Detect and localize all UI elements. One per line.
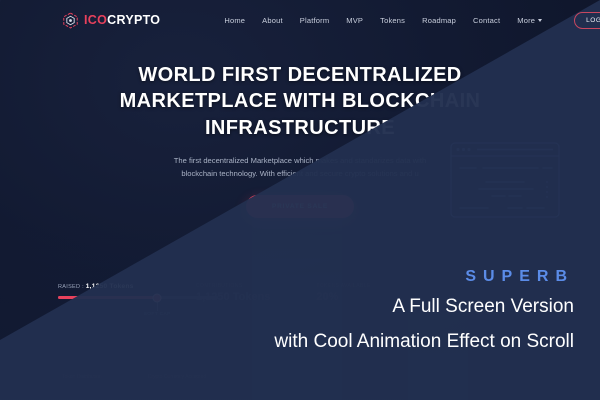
private-sale-button[interactable]: PRIVATE SALE <box>246 195 354 218</box>
logo-text: ICOCRYPTO <box>84 13 160 27</box>
hero-cta-wrapper: PRIVATE SALE <box>0 195 600 218</box>
site-logo[interactable]: ICOCRYPTO <box>62 12 160 29</box>
nav-item-contact[interactable]: Contact <box>473 16 500 25</box>
nav-item-mvp[interactable]: MVP <box>346 16 363 25</box>
softcap-label: SOFT CAP <box>144 312 171 317</box>
site-header: ICOCRYPTO Home About Platform MVP Tokens… <box>0 0 600 40</box>
hero-subtitle: The first decentralized Marketplace whic… <box>163 154 438 181</box>
raised-label: RAISED : 1,1250 Tokens <box>58 283 218 290</box>
raised-progress-block: RAISED : 1,1250 Tokens SOFT CAP <box>58 283 218 299</box>
logo-text-secondary: CRYPTO <box>107 13 160 27</box>
nav-item-roadmap[interactable]: Roadmap <box>422 16 456 25</box>
nav-item-more[interactable]: More <box>517 16 542 25</box>
nav-item-about[interactable]: About <box>262 16 283 25</box>
progress-bar-fill <box>58 296 157 299</box>
promo-line-1: A Full Screen Version <box>274 294 574 321</box>
raised-label-prefix: RAISED : <box>58 284 84 290</box>
nav-item-platform[interactable]: Platform <box>300 16 330 25</box>
progress-slider-handle[interactable] <box>153 293 162 302</box>
main-navigation: Home About Platform MVP Tokens Roadmap C… <box>224 12 600 29</box>
footnote-item: Token Distribution <box>62 374 102 380</box>
promo-kicker: SUPERB <box>274 268 574 286</box>
login-button[interactable]: LOGIN <box>574 12 600 29</box>
hero-title: WORLD FIRST DECENTRALIZED MARKETPLACE WI… <box>0 62 600 141</box>
hero-section: WORLD FIRST DECENTRALIZED MARKETPLACE WI… <box>0 62 600 218</box>
nav-item-home[interactable]: Home <box>224 16 245 25</box>
hexagon-logo-icon <box>62 12 79 29</box>
logo-text-primary: ICO <box>84 13 107 27</box>
progress-bar[interactable]: SOFT CAP <box>58 296 218 299</box>
promo-line-2: with Cool Animation Effect on Scroll <box>274 329 574 356</box>
footnote-item: Crypto Currency Accepted <box>148 374 206 380</box>
promo-block: SUPERB A Full Screen Version with Cool A… <box>274 268 574 355</box>
screenshot-canvas: ICOCRYPTO Home About Platform MVP Tokens… <box>0 0 600 400</box>
chevron-down-icon <box>538 19 542 22</box>
nav-item-tokens[interactable]: Tokens <box>380 16 405 25</box>
raised-amount: 1,1250 Tokens <box>86 283 134 290</box>
footnote-row: Token Distribution Crypto Currency Accep… <box>62 374 206 380</box>
nav-item-more-label: More <box>517 16 535 25</box>
